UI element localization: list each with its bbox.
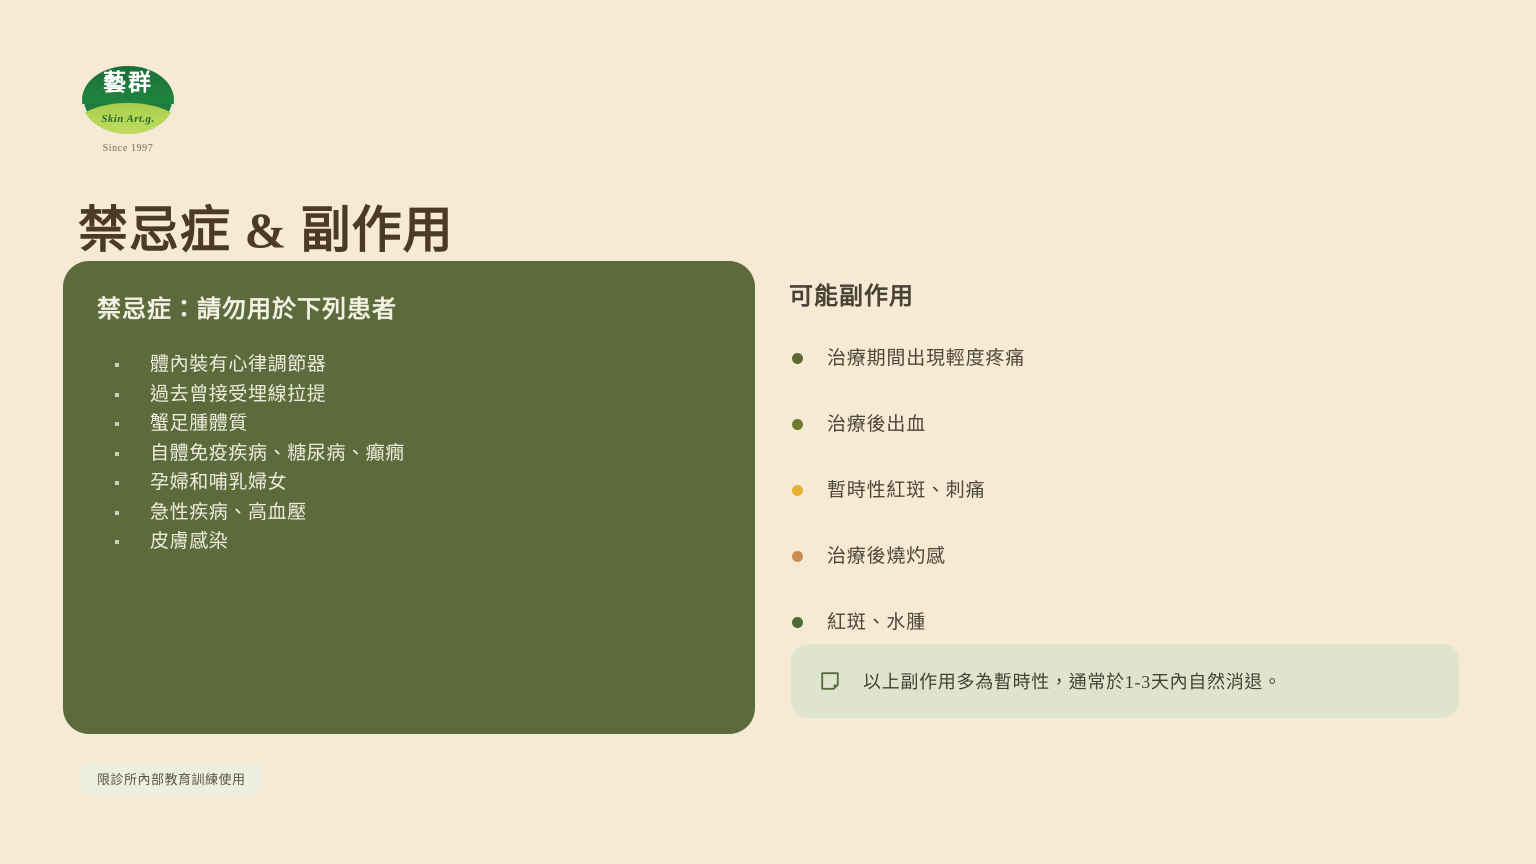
list-item-label: 蟹足腫體質 — [150, 413, 248, 434]
bullet-dot-icon — [792, 353, 803, 364]
bullet-dot-icon — [792, 485, 803, 496]
logo-oval-mark: 藝群 Skin Art.g. — [82, 66, 174, 134]
page-title: 禁忌症 & 副作用 — [78, 202, 454, 260]
logo-english-name: Skin Art.g. — [82, 113, 174, 125]
bullet-dot-icon — [115, 511, 119, 515]
bullet-dot-icon — [115, 363, 119, 367]
bullet-dot-icon — [115, 540, 119, 544]
list-item: 體內裝有心律調節器 — [97, 350, 721, 380]
list-item: 治療後燒灼感 — [789, 547, 1469, 613]
list-item-label: 治療後出血 — [827, 414, 926, 435]
list-item: 治療期間出現輕度疼痛 — [789, 349, 1469, 415]
list-item-label: 治療期間出現輕度疼痛 — [827, 348, 1025, 369]
list-item: 孕婦和哺乳婦女 — [97, 468, 721, 498]
bullet-dot-icon — [792, 551, 803, 562]
side-effects-heading: 可能副作用 — [789, 276, 1469, 311]
bullet-dot-icon — [115, 452, 119, 456]
note-callout: 以上副作用多為暫時性，通常於1-3天內自然消退。 — [791, 644, 1459, 718]
page-title-ampersand: & — [245, 202, 288, 258]
list-item-label: 過去曾接受埋線拉提 — [150, 384, 326, 405]
bullet-dot-icon — [115, 393, 119, 397]
bullet-dot-icon — [792, 419, 803, 430]
side-effects-list: 治療期間出現輕度疼痛 治療後出血 暫時性紅斑、刺痛 治療後燒灼感 紅斑、水腫 — [789, 349, 1469, 679]
list-item-label: 暫時性紅斑、刺痛 — [827, 480, 985, 501]
list-item: 治療後出血 — [789, 415, 1469, 481]
bullet-dot-icon — [115, 422, 119, 426]
bullet-dot-icon — [115, 481, 119, 485]
note-text: 以上副作用多為暫時性，通常於1-3天內自然消退。 — [863, 668, 1282, 694]
contraindications-list: 體內裝有心律調節器 過去曾接受埋線拉提 蟹足腫體質 自體免疫疾病、糖尿病、癲癇 … — [97, 350, 721, 557]
list-item-label: 孕婦和哺乳婦女 — [150, 472, 287, 493]
list-item: 暫時性紅斑、刺痛 — [789, 481, 1469, 547]
list-item-label: 治療後燒灼感 — [827, 546, 946, 567]
list-item-label: 皮膚感染 — [150, 531, 228, 552]
logo-since-text: Since 1997 — [80, 143, 176, 154]
sticky-note-icon — [819, 670, 841, 692]
slide-root: 藝群 Skin Art.g. Since 1997 禁忌症 & 副作用 禁忌症：… — [0, 0, 1536, 864]
footer-usage-badge: 限診所內部教育訓練使用 — [81, 763, 262, 794]
list-item: 蟹足腫體質 — [97, 409, 721, 439]
logo-chinese-name: 藝群 — [82, 71, 174, 94]
brand-logo: 藝群 Skin Art.g. Since 1997 — [80, 66, 176, 154]
page-title-suffix: 副作用 — [287, 202, 454, 258]
list-item: 過去曾接受埋線拉提 — [97, 380, 721, 410]
contraindications-heading: 禁忌症：請勿用於下列患者 — [97, 289, 721, 324]
list-item: 自體免疫疾病、糖尿病、癲癇 — [97, 439, 721, 469]
contraindications-panel: 禁忌症：請勿用於下列患者 體內裝有心律調節器 過去曾接受埋線拉提 蟹足腫體質 自… — [63, 261, 755, 734]
side-effects-section: 可能副作用 治療期間出現輕度疼痛 治療後出血 暫時性紅斑、刺痛 治療後燒灼感 紅… — [789, 276, 1469, 679]
list-item-label: 紅斑、水腫 — [827, 612, 926, 633]
list-item: 急性疾病、高血壓 — [97, 498, 721, 528]
list-item-label: 自體免疫疾病、糖尿病、癲癇 — [150, 443, 405, 464]
page-title-prefix: 禁忌症 — [78, 202, 245, 258]
list-item-label: 體內裝有心律調節器 — [150, 354, 326, 375]
list-item-label: 急性疾病、高血壓 — [150, 502, 307, 523]
bullet-dot-icon — [792, 617, 803, 628]
list-item: 皮膚感染 — [97, 527, 721, 557]
